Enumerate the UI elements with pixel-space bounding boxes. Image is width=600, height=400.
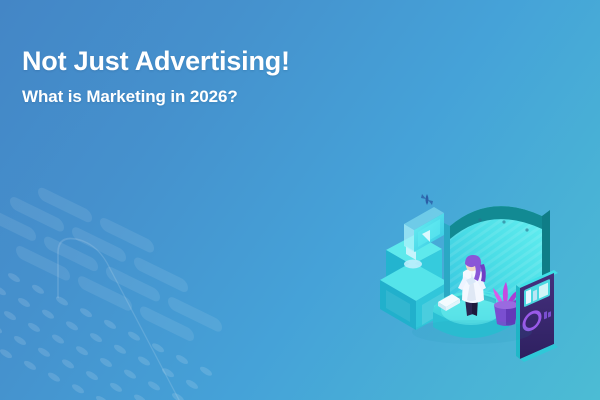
- pattern-arc: [58, 229, 230, 400]
- marketing-banner: Not Just Advertising! What is Marketing …: [0, 0, 600, 400]
- page-subtitle: What is Marketing in 2026?: [22, 88, 290, 107]
- page-title: Not Just Advertising!: [22, 47, 290, 75]
- pattern-bars: [0, 175, 222, 357]
- sparkle-icon: [421, 194, 433, 205]
- pattern-dots: [0, 232, 212, 400]
- text-block: Not Just Advertising! What is Marketing …: [22, 47, 290, 107]
- isometric-exhibition-booth-illustration: [372, 172, 572, 372]
